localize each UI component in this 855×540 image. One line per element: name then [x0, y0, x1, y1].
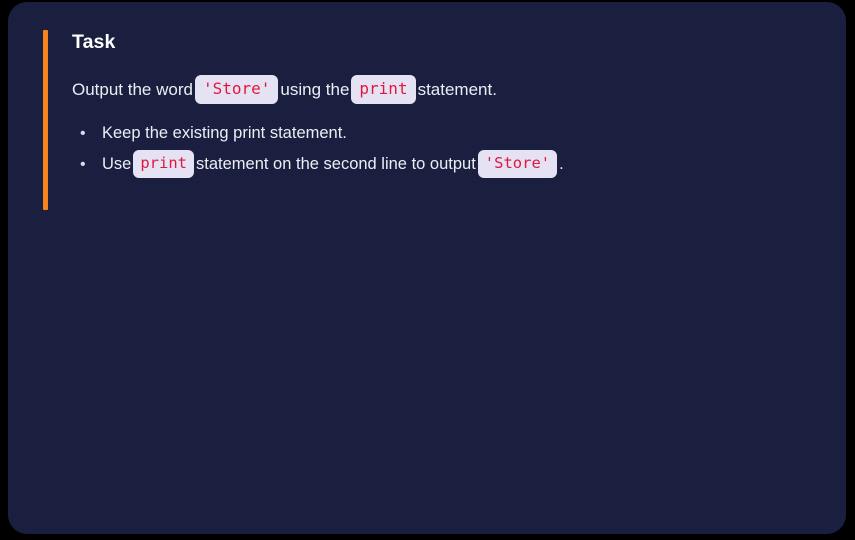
list-item-text-after: . [559, 155, 564, 173]
bullet-icon: • [80, 149, 86, 180]
task-requirements-list: •Keep the existing print statement. •Use… [72, 105, 803, 180]
task-body: Task Output the word'Store'using theprin… [43, 30, 803, 180]
list-item: •Keep the existing print statement. [72, 118, 803, 149]
page-title: Task [72, 30, 803, 53]
task-description-text-after: statement. [418, 80, 497, 99]
accent-bar [43, 30, 48, 210]
task-block: Task Output the word'Store'using theprin… [43, 30, 803, 180]
screenshot-root: Task Output the word'Store'using theprin… [0, 0, 855, 540]
task-description-text-before: Output the word [72, 80, 193, 99]
list-item-text-middle: statement on the second line to output [196, 155, 476, 173]
code-chip-print: print [351, 75, 415, 104]
bullet-icon: • [80, 118, 86, 149]
list-item: •Useprintstatement on the second line to… [72, 149, 803, 180]
list-item-text-before: Use [102, 155, 131, 173]
task-description-text-between: using the [280, 80, 349, 99]
task-card: Task Output the word'Store'using theprin… [8, 2, 846, 534]
code-chip-print: print [133, 150, 194, 179]
code-chip-store: 'Store' [478, 150, 557, 179]
list-item-label: Keep the existing print statement. [102, 124, 347, 142]
task-description: Output the word'Store'using theprintstat… [72, 53, 803, 105]
code-chip-store: 'Store' [195, 75, 278, 104]
